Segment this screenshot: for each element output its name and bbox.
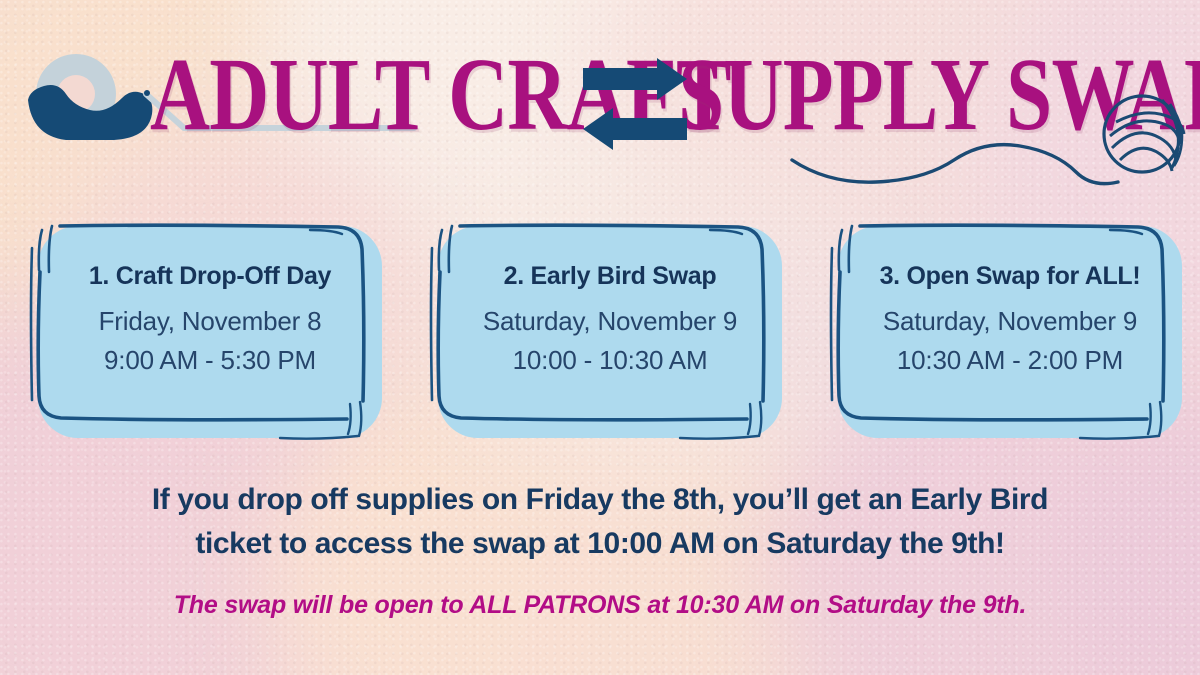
card-date: Saturday, November 9 xyxy=(436,302,784,341)
card-content: 1. Craft Drop-Off Day Friday, November 8… xyxy=(36,260,384,380)
highlight-note: The swap will be open to ALL PATRONS at … xyxy=(0,588,1200,622)
poster-header: ADULT CRAFT SUPPLY SWAP xyxy=(0,0,1200,200)
schedule-card[interactable]: 1. Craft Drop-Off Day Friday, November 8… xyxy=(10,212,390,452)
card-date: Friday, November 8 xyxy=(36,302,384,341)
schedule-card[interactable]: 2. Early Bird Swap Saturday, November 9 … xyxy=(410,212,790,452)
card-title: 2. Early Bird Swap xyxy=(436,260,784,292)
card-time: 10:30 AM - 2:00 PM xyxy=(836,341,1184,380)
card-date: Saturday, November 9 xyxy=(836,302,1184,341)
card-content: 2. Early Bird Swap Saturday, November 9 … xyxy=(436,260,784,380)
card-time: 10:00 - 10:30 AM xyxy=(436,341,784,380)
card-title: 3. Open Swap for ALL! xyxy=(836,260,1184,292)
card-time: 9:00 AM - 5:30 PM xyxy=(36,341,384,380)
swap-arrows-icon xyxy=(583,58,687,155)
schedule-card[interactable]: 3. Open Swap for ALL! Saturday, November… xyxy=(810,212,1190,452)
schedule-cards: 1. Craft Drop-Off Day Friday, November 8… xyxy=(0,212,1200,452)
instruction-line-two: ticket to access the swap at 10:00 AM on… xyxy=(0,522,1200,566)
poster-canvas: ADULT CRAFT SUPPLY SWAP xyxy=(0,0,1200,675)
card-content: 3. Open Swap for ALL! Saturday, November… xyxy=(836,260,1184,380)
poster-footer: If you drop off supplies on Friday the 8… xyxy=(0,478,1200,622)
yarn-strand-line xyxy=(790,138,1120,193)
card-title: 1. Craft Drop-Off Day xyxy=(36,260,384,292)
instruction-line-one: If you drop off supplies on Friday the 8… xyxy=(0,478,1200,522)
